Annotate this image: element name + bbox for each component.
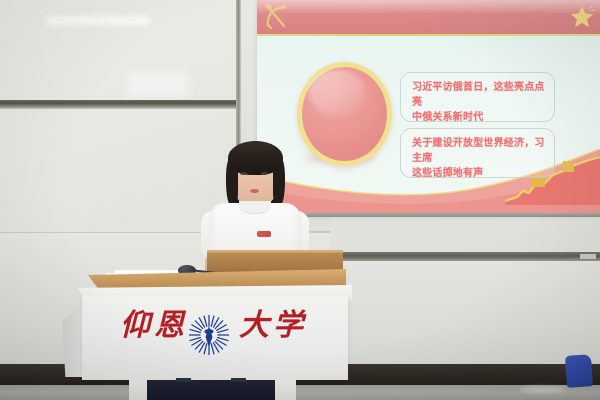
board-glare-secondary [126,72,188,98]
eye-left [240,172,247,175]
podium-institution-left: 仰恩 [120,311,188,341]
whiteboard-corner-bracket [580,254,596,259]
podium-base-panel [147,380,275,400]
hammer-and-sickle-icon [262,2,292,32]
slide-text-box-1: 习近平访俄首日，这些亮点点亮 中俄关系新时代 [400,72,555,122]
mouth [250,189,259,193]
slide-text-1-line-1: 习近平访俄首日，这些亮点点亮 [412,80,545,110]
podium-institution-right: 大学 [239,311,307,341]
board-glare [45,16,150,25]
podium-base-left [129,380,149,400]
podium-name-left: 仰恩 [120,311,188,341]
sunburst-circle-logo [187,313,231,357]
slide-text-2-line-2: 这些话掷地有声 [412,166,545,181]
banner-gold-rule [257,34,600,36]
whiteboard-marker-rail [0,100,238,109]
classroom-photo: 习近平访俄首日，这些亮点点亮 中俄关系新时代 关于建设开放型世界经济，习主席 这… [0,0,600,400]
slide-text-box-2: 关于建设开放型世界经济，习主席 这些话掷地有声 [400,128,555,178]
five-pointed-star-icon [569,4,595,30]
floor-reflection [520,386,566,393]
podium-bracket-left [176,378,191,382]
banner-highlight [257,0,600,14]
slide-banner [257,0,600,35]
circle-gloss [309,70,365,116]
podium-base-right [274,380,296,400]
podium-bracket-right [231,378,246,382]
slide-text-2-line-1: 关于建设开放型世界经济，习主席 [412,136,545,166]
blue-bag [565,354,593,388]
hair-bangs [230,151,281,170]
eye-right [261,172,268,175]
whiteboard-frame-bottom [330,252,600,261]
podium-name-right: 大学 [239,311,307,341]
red-chest-logo [257,231,271,237]
slide-text-1-line-2: 中俄关系新时代 [412,110,545,125]
shirt-collar [239,201,271,214]
